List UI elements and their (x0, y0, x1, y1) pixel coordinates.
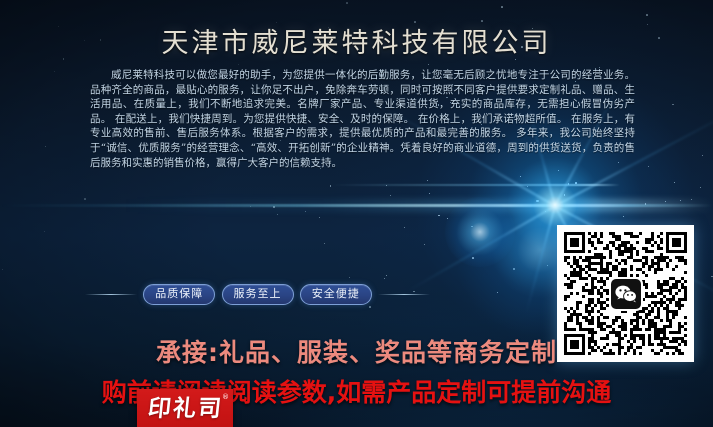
brand-logo-text: 印礼司 (146, 397, 223, 420)
promotional-banner: 天津市威尼莱特科技有限公司 威尼莱特科技可以做您最好的助手，为您提供一体化的后勤… (0, 0, 713, 427)
flare-ray (520, 206, 556, 332)
divider-line-right (378, 294, 430, 295)
light-streak-wide (120, 199, 713, 212)
feature-badge-safety[interactable]: 安全便捷 (300, 284, 372, 305)
company-description: 威尼莱特科技可以做您最好的助手，为您提供一体化的后勤服务，让您毫无后顾之忧地专注… (90, 68, 635, 170)
brand-logo: 印礼司 ® (137, 389, 233, 427)
small-flare-orb (445, 197, 515, 267)
light-streak-upper (330, 184, 620, 186)
divider-line-left (85, 294, 137, 295)
wechat-icon (611, 279, 641, 309)
feature-badge-quality[interactable]: 品质保障 (143, 284, 215, 305)
page-title: 天津市威尼莱特科技有限公司 (0, 21, 713, 60)
feature-badge-service[interactable]: 服务至上 (222, 284, 294, 305)
feature-badge-row: 品质保障 服务至上 安全便捷 (85, 283, 430, 305)
promo-line-custom-orders: 承接:礼品、服装、奖品等商务定制 (0, 333, 713, 369)
registered-mark: ® (222, 393, 229, 401)
promo-line-read-specs: 购前请阅读阅读参数,如需产品定制可提前沟通 (0, 373, 713, 409)
light-streak-main (0, 204, 713, 207)
